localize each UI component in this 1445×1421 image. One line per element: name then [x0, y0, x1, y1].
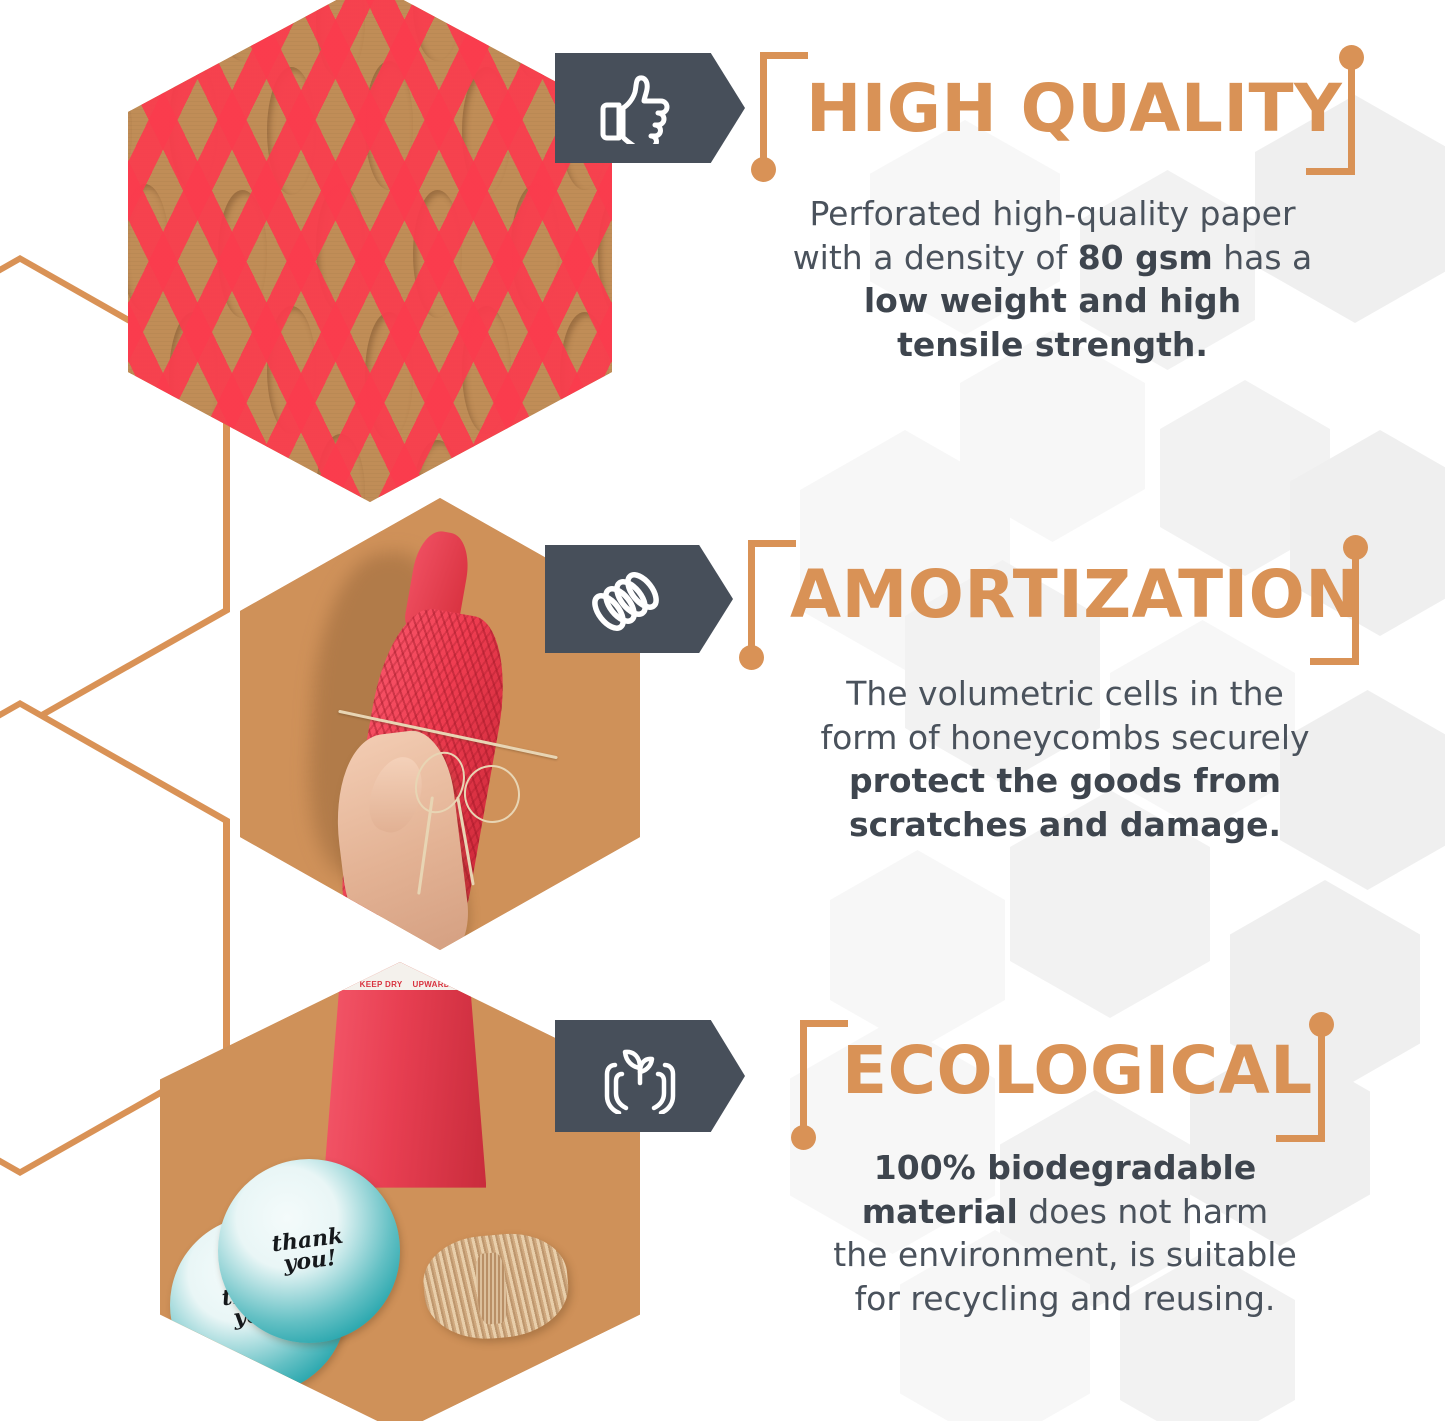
- badge-ecological: [555, 1020, 745, 1132]
- title-bracket-right-ecological: [1318, 1012, 1325, 1152]
- title-bracket-left-amortization: [748, 540, 755, 670]
- title-bracket-left-ecological: [800, 1020, 807, 1150]
- badge-high-quality: [555, 53, 745, 163]
- body-line: Perforated high-quality paper: [730, 192, 1375, 236]
- honeycomb-paper-roll: [323, 962, 486, 1188]
- label-keep-dry: KEEP DRY: [360, 980, 403, 990]
- body-line: The volumetric cells in the: [755, 672, 1375, 716]
- watermark-hexagon: [800, 430, 1010, 670]
- title-bracket-left-high-quality: [760, 52, 767, 182]
- watermark-hexagon: [830, 850, 1005, 1050]
- body-line: 100% biodegradable: [745, 1146, 1385, 1190]
- body-line: low weight and high: [730, 279, 1375, 323]
- sticker-text: thankyou!: [271, 1226, 347, 1276]
- body-line: with a density of 80 gsm has a: [730, 236, 1375, 280]
- coil-spring-icon: [587, 562, 669, 636]
- section-body-high-quality: Perforated high-quality paper with a den…: [730, 192, 1375, 366]
- watermark-hexagon: [1160, 380, 1330, 576]
- body-line: for recycling and reusing.: [745, 1277, 1385, 1321]
- shipping-label-strip: KEEP DRY UPWARD: [323, 962, 486, 990]
- body-line: material does not harm: [745, 1190, 1385, 1234]
- section-title-high-quality: HIGH QUALITY: [806, 76, 1342, 142]
- thank-you-sticker-front: thankyou!: [218, 1159, 400, 1342]
- infographic-page: HIGH QUALITY Perforated high-quality pap…: [0, 0, 1445, 1421]
- section-title-ecological: ECOLOGICAL: [842, 1038, 1313, 1104]
- badge-amortization: [545, 545, 733, 653]
- section-body-ecological: 100% biodegradable material does not har…: [745, 1146, 1385, 1320]
- hands-holding-plant-icon: [597, 1038, 683, 1114]
- section-body-amortization: The volumetric cells in the form of hone…: [755, 672, 1375, 846]
- thumbs-up-icon: [597, 72, 675, 144]
- label-upward: UPWARD: [403, 980, 450, 990]
- body-line: form of honeycombs securely: [755, 716, 1375, 760]
- title-bracket-right-high-quality: [1348, 45, 1355, 185]
- body-line: the environment, is suitable: [745, 1233, 1385, 1277]
- body-line: tensile strength.: [730, 323, 1375, 367]
- body-line: protect the goods from: [755, 759, 1375, 803]
- section-title-amortization: AMORTIZATION: [790, 562, 1361, 628]
- body-line: scratches and damage.: [755, 803, 1375, 847]
